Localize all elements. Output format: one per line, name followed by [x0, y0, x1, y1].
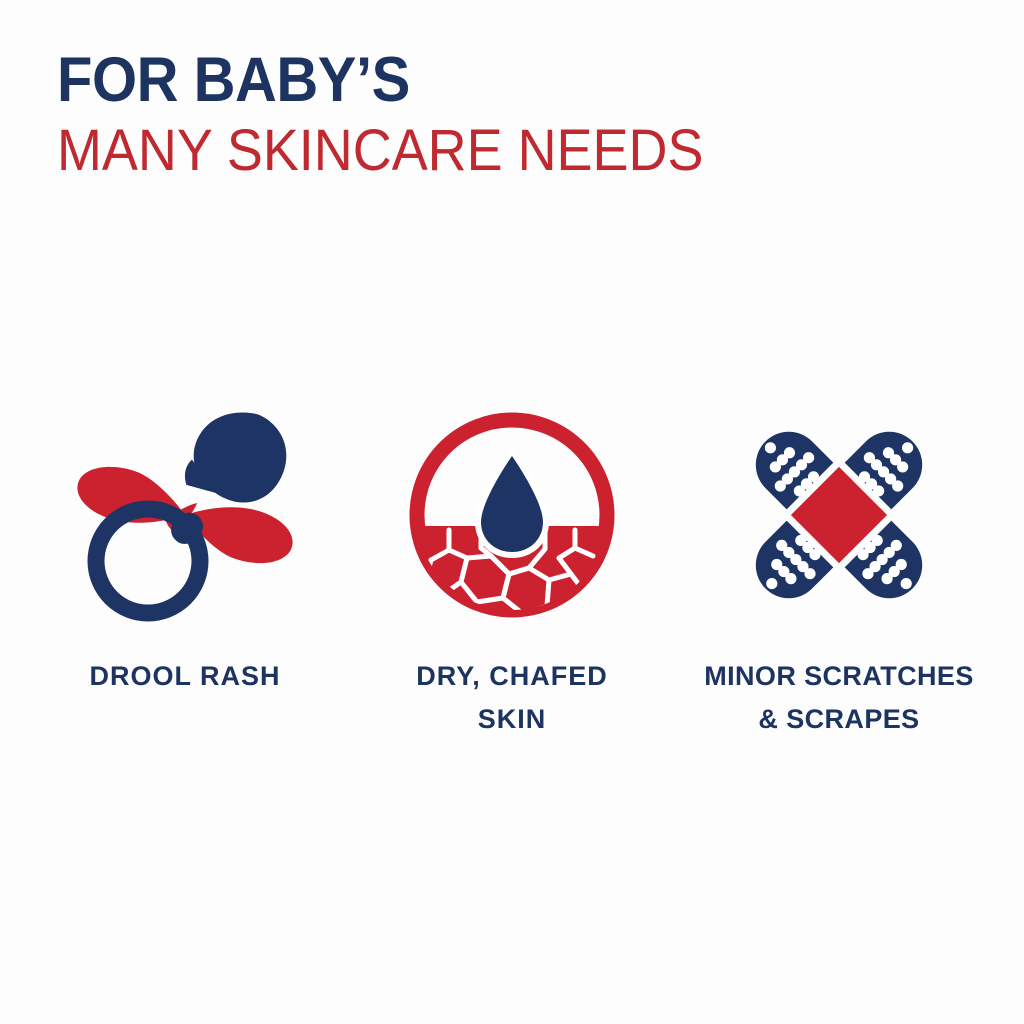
skin-cross-section-droplet-icon	[397, 398, 627, 633]
benefit-item-minor-scratches: MINOR SCRATCHES & SCRAPES	[684, 398, 994, 741]
benefit-label-dry-chafed-skin: DRY, CHAFED SKIN	[416, 655, 608, 741]
benefit-label-minor-scratches: MINOR SCRATCHES & SCRAPES	[704, 655, 974, 741]
benefit-item-drool-rash: DROOL RASH	[30, 398, 340, 698]
headline: FOR BABY’S MANY SKINCARE NEEDS	[57, 48, 967, 182]
crossed-bandages-icon	[724, 398, 954, 633]
headline-line-2: MANY SKINCARE NEEDS	[57, 120, 903, 182]
headline-line-1: FOR BABY’S	[57, 48, 894, 112]
benefit-item-dry-chafed-skin: DRY, CHAFED SKIN	[357, 398, 667, 741]
benefit-label-drool-rash: DROOL RASH	[89, 655, 280, 698]
benefits-row: DROOL RASH	[0, 398, 1024, 741]
pacifier-icon	[70, 398, 300, 633]
